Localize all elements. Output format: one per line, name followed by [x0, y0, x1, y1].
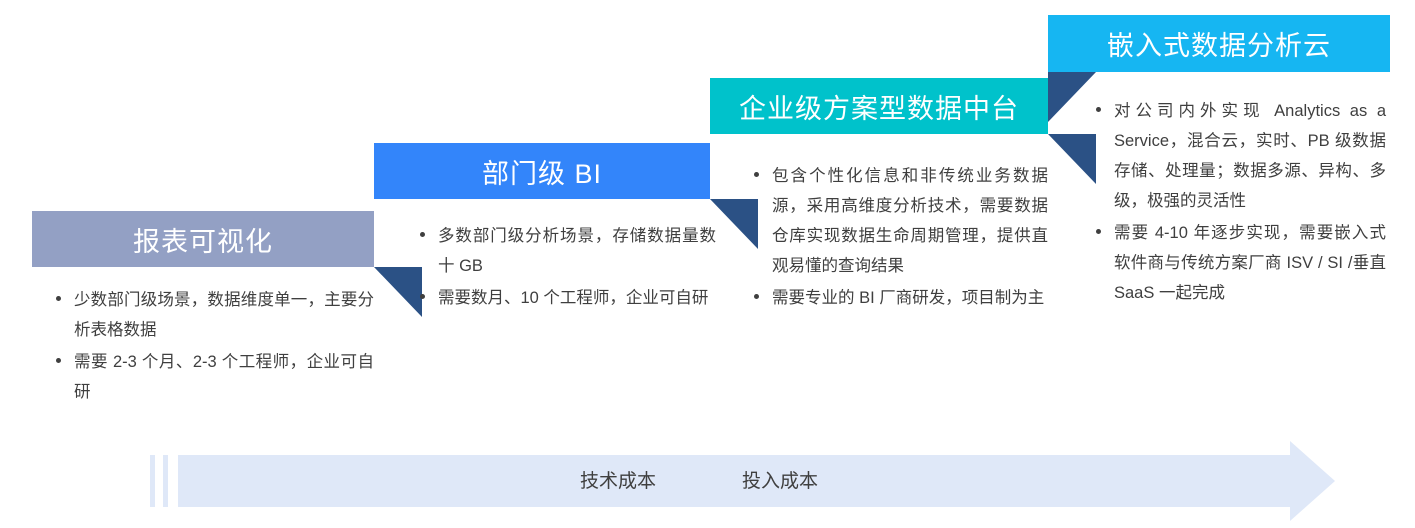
bullet-dot-icon: [420, 232, 425, 237]
bullet-dot-icon: [56, 358, 61, 363]
list-item: 需要专业的 BI 厂商研发，项目制为主: [750, 283, 1048, 313]
bullet-dot-icon: [754, 294, 759, 299]
axis-label-tech-cost: 技术成本: [580, 466, 656, 493]
bullet-dot-icon: [1096, 107, 1101, 112]
tier-4-banner[interactable]: 嵌入式数据分析云: [1048, 15, 1390, 72]
arrow-head-icon: [1290, 441, 1335, 521]
list-item: 多数部门级分析场景，存储数据量数十 GB: [416, 221, 716, 281]
tier-1-shadow-triangle: [374, 267, 422, 317]
tier-3-title: 企业级方案型数据中台: [739, 87, 1019, 126]
axis-label-invest-cost: 投入成本: [742, 466, 818, 493]
axis-tick-2: [163, 455, 168, 507]
tier-1-title: 报表可视化: [133, 220, 273, 259]
list-item: 需要 4-10 年逐步实现，需要嵌入式软件商与传统方案厂商 ISV / SI /…: [1092, 218, 1386, 308]
cost-axis-arrow: 技术成本 投入成本: [150, 455, 1310, 507]
tier-2-banner[interactable]: 部门级 BI: [374, 143, 710, 199]
list-item: 需要 2-3 个月、2-3 个工程师，企业可自研: [52, 347, 374, 407]
list-item: 对公司内外实现 Analytics as a Service，混合云，实时、PB…: [1092, 96, 1386, 216]
list-item: 需要数月、10 个工程师，企业可自研: [416, 283, 716, 313]
tier-3-bullet-list: 包含个性化信息和非传统业务数据源，采用高维度分析技术，需要数据仓库实现数据生命周…: [750, 161, 1048, 315]
axis-tick-1: [150, 455, 155, 507]
bullet-dot-icon: [1096, 229, 1101, 234]
tier-1-banner[interactable]: 报表可视化: [32, 211, 374, 267]
tier-3-shadow-triangle: [1048, 134, 1096, 184]
tier-1-bullet-list: 少数部门级场景，数据维度单一，主要分析表格数据 需要 2-3 个月、2-3 个工…: [52, 285, 374, 409]
tier-3-banner[interactable]: 企业级方案型数据中台: [710, 78, 1048, 134]
tier-2-bullet-list: 多数部门级分析场景，存储数据量数十 GB 需要数月、10 个工程师，企业可自研: [416, 221, 716, 315]
tier-4-title: 嵌入式数据分析云: [1107, 24, 1331, 63]
bullet-dot-icon: [56, 296, 61, 301]
arrow-body: [178, 455, 1295, 507]
tier-2-title: 部门级 BI: [482, 152, 602, 191]
bullet-dot-icon: [754, 172, 759, 177]
bullet-dot-icon: [420, 294, 425, 299]
tier-4-shadow-triangle: [1048, 72, 1096, 122]
tier-4-bullet-list: 对公司内外实现 Analytics as a Service，混合云，实时、PB…: [1092, 96, 1386, 310]
maturity-staircase-diagram: 报表可视化 少数部门级场景，数据维度单一，主要分析表格数据 需要 2-3 个月、…: [0, 0, 1415, 528]
list-item: 包含个性化信息和非传统业务数据源，采用高维度分析技术，需要数据仓库实现数据生命周…: [750, 161, 1048, 281]
list-item: 少数部门级场景，数据维度单一，主要分析表格数据: [52, 285, 374, 345]
